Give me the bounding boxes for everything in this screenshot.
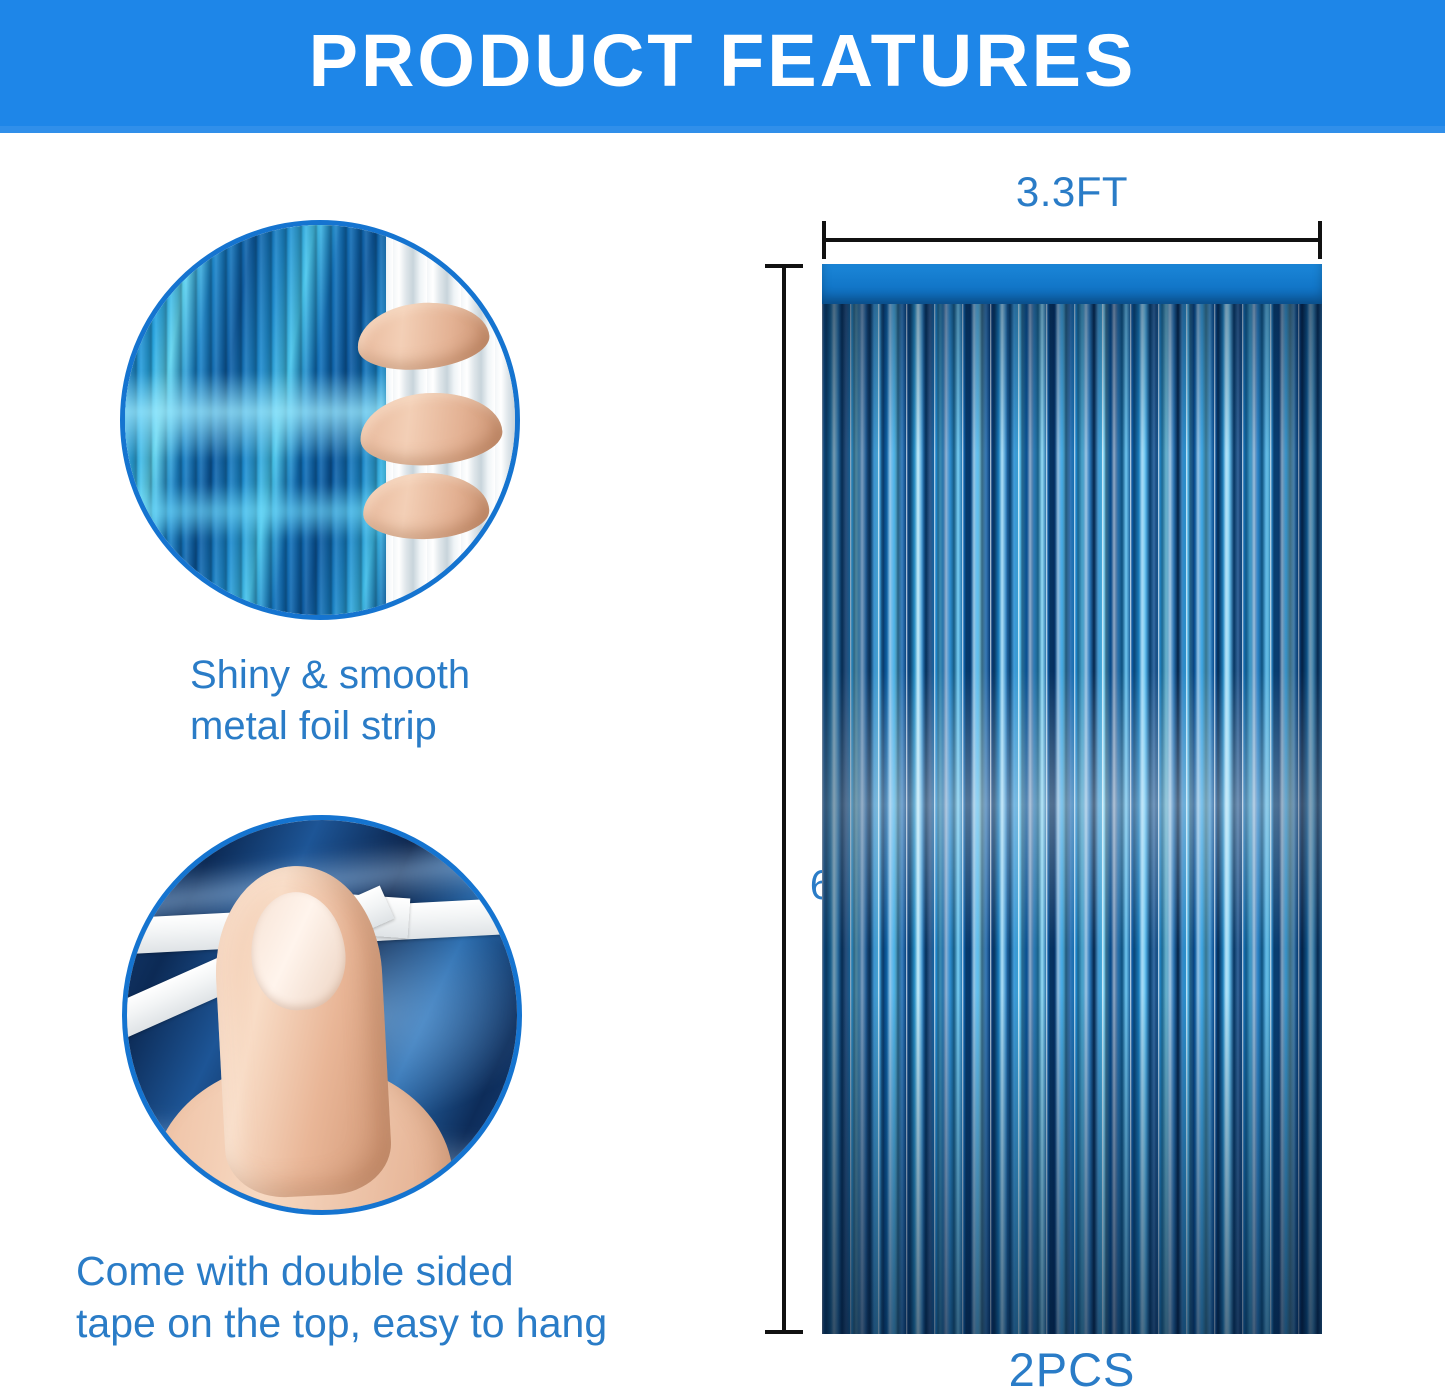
product-photo-fringe-curtain: [822, 264, 1322, 1334]
dimension-cap: [822, 221, 826, 259]
feature-caption-double-sided-tape: Come with double sided tape on the top, …: [0, 1245, 690, 1350]
feature-caption-shiny-foil: Shiny & smooth metal foil strip: [0, 650, 690, 752]
dimension-line: [822, 238, 1322, 242]
dimension-line-width: [822, 238, 1322, 239]
feature-photo-double-sided-tape: [122, 815, 522, 1215]
header-banner-underline: [0, 126, 1445, 133]
dimension-cap: [765, 264, 803, 268]
dimension-label-width: 3.3FT: [822, 168, 1322, 216]
caption-line: Come with double sided: [76, 1245, 690, 1297]
quantity-label: 2PCS: [822, 1342, 1322, 1397]
foil-strips: [125, 225, 386, 615]
product-dimensions-area: 3.3FT 6.6FT 2PCS: [630, 160, 1445, 1394]
curtain-top-band: [822, 264, 1322, 304]
foil-highlight-secondary: [125, 484, 386, 540]
dimension-line-height: 6.6FT: [782, 264, 783, 1334]
foil-highlight: [125, 372, 386, 460]
features-column: Shiny & smooth metal foil strip Come wit…: [0, 150, 690, 1394]
dimension-line: [782, 264, 786, 1334]
feature-block-double-sided-tape: Come with double sided tape on the top, …: [0, 815, 690, 1350]
dimension-cap: [1318, 221, 1322, 259]
feature-photo-shiny-foil: [120, 220, 520, 620]
caption-line: tape on the top, easy to hang: [76, 1297, 690, 1349]
feature-block-shiny-foil: Shiny & smooth metal foil strip: [0, 220, 690, 752]
caption-line: Shiny & smooth: [190, 650, 690, 701]
dimension-cap: [765, 1330, 803, 1334]
header-banner: PRODUCT FEATURES: [0, 0, 1445, 126]
page-title: PRODUCT FEATURES: [309, 24, 1137, 102]
photo-inner: [125, 225, 515, 615]
fringe-strips: [822, 264, 1322, 1334]
caption-line: metal foil strip: [190, 701, 690, 752]
photo-inner: [127, 820, 517, 1210]
